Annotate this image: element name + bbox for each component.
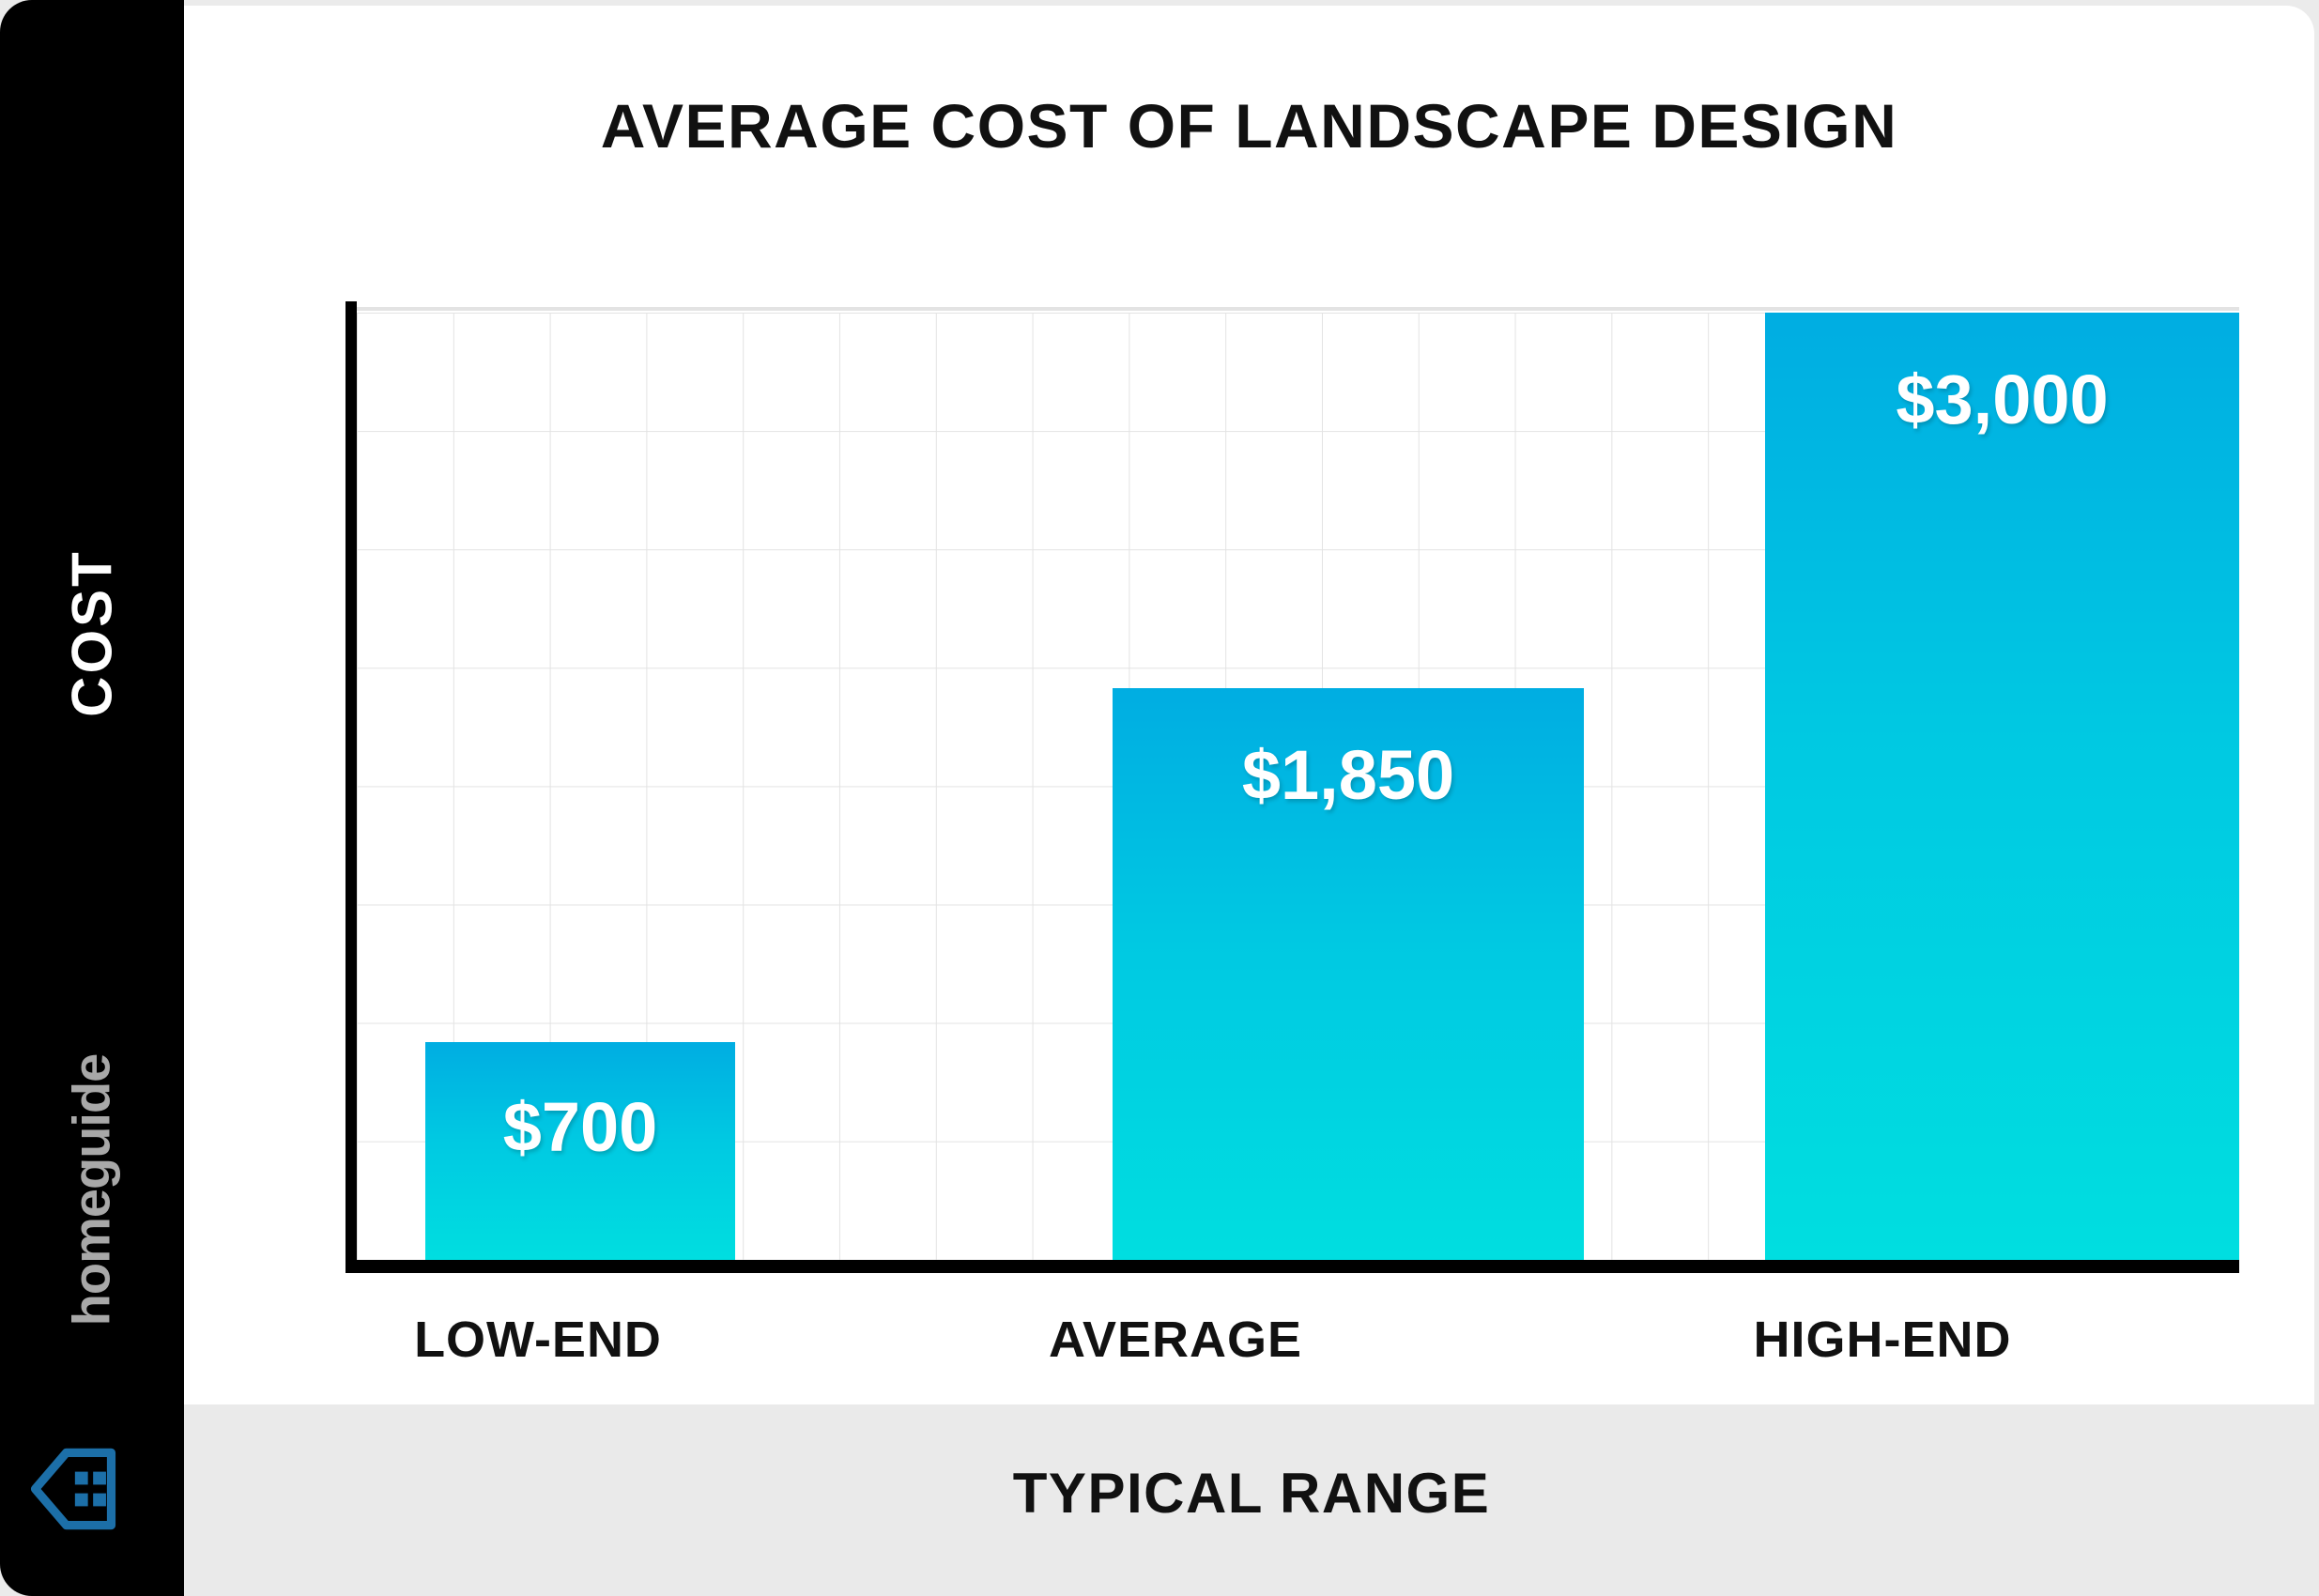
- bar-value-low-end: $700: [425, 1087, 735, 1167]
- x-tick-label-low-end: LOW-END: [266, 1311, 810, 1369]
- plot-area: $700 $1,850 $3,000: [357, 313, 2239, 1260]
- x-tick-label-high-end: HIGH-END: [1527, 1311, 2238, 1369]
- x-tick-label-average: AVERAGE: [887, 1311, 1464, 1369]
- brand-wordmark: homeguide: [61, 1012, 122, 1369]
- bar-value-high-end: $3,000: [1765, 360, 2239, 439]
- bar-value-average: $1,850: [1113, 735, 1584, 815]
- y-axis-label-cost: COST: [60, 542, 125, 726]
- homeguide-house-icon: [30, 1446, 116, 1532]
- x-axis-label-typical-range: TYPICAL RANGE: [184, 1461, 2319, 1526]
- infographic-root: COST homeguide AVERAGE COST OF LANDSCAPE…: [0, 0, 2319, 1596]
- grid-top-edge: [357, 307, 2239, 311]
- bar-high-end[interactable]: $3,000: [1765, 313, 2239, 1260]
- x-axis-line: [346, 1260, 2239, 1273]
- bar-average[interactable]: $1,850: [1113, 688, 1584, 1260]
- chart-card: AVERAGE COST OF LANDSCAPE DESIGN $700 $1…: [184, 6, 2314, 1590]
- y-axis-line: [346, 301, 357, 1271]
- footer-band: TYPICAL RANGE: [184, 1404, 2319, 1596]
- bar-low-end[interactable]: $700: [425, 1042, 735, 1260]
- page-title: AVERAGE COST OF LANDSCAPE DESIGN: [184, 90, 2314, 161]
- left-sidebar: COST homeguide: [0, 0, 184, 1596]
